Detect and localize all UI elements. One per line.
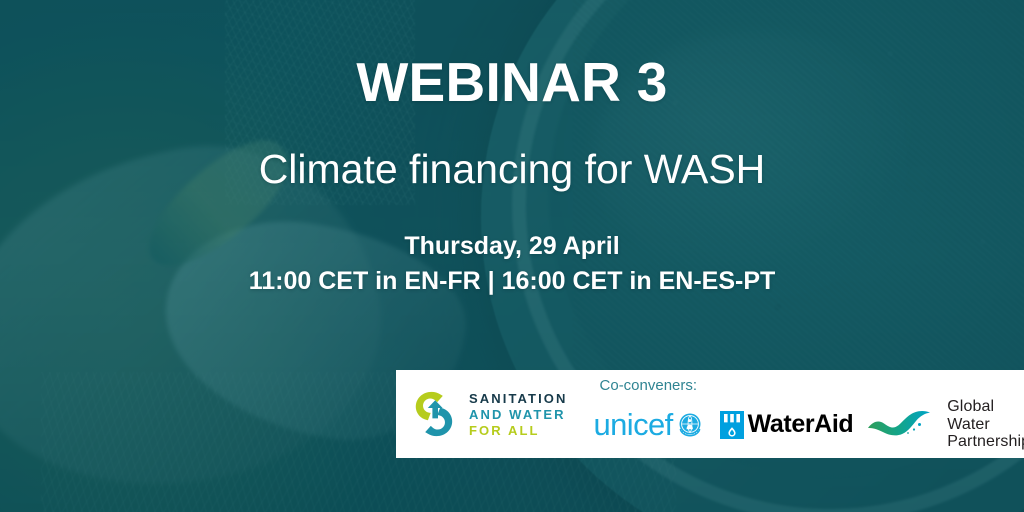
- gwp-wordmark: Global Water Partnership: [947, 398, 1024, 452]
- swa-wordmark-line3: FOR ALL: [469, 424, 568, 437]
- webinar-date: Thursday, 29 April: [0, 231, 1024, 262]
- gwp-wave-icon: [867, 407, 941, 443]
- coconveners-group: Co-conveners: unicef: [594, 377, 1024, 452]
- webinar-subtitle: Climate financing for WASH: [0, 147, 1024, 193]
- wateraid-logo: WaterAid: [719, 410, 854, 440]
- coconveners-label: Co-conveners:: [600, 377, 698, 394]
- wateraid-wordmark: WaterAid: [748, 412, 854, 437]
- logo-bar: SANITATION AND WATER FOR ALL Co-convener…: [396, 370, 1024, 458]
- unicef-logo: unicef: [594, 409, 705, 440]
- webinar-title: WEBINAR 3: [0, 54, 1024, 111]
- swa-logo: SANITATION AND WATER FOR ALL: [396, 388, 568, 440]
- swa-s-swirl-icon: [408, 388, 460, 440]
- swa-wordmark-line1: SANITATION: [469, 392, 568, 405]
- gwp-wordmark-line1: Global Water: [947, 398, 1024, 434]
- webinar-promo-banner: WEBINAR 3 Climate financing for WASH Thu…: [0, 0, 1024, 512]
- un-globe-emblem-icon: [675, 410, 705, 440]
- gwp-logo: Global Water Partnership: [867, 398, 1024, 452]
- gwp-wordmark-line2: Partnership: [947, 433, 1024, 451]
- swa-wordmark: SANITATION AND WATER FOR ALL: [469, 392, 568, 437]
- webinar-times: 11:00 CET in EN-FR | 16:00 CET in EN-ES-…: [0, 266, 1024, 297]
- swa-wordmark-line2: AND WATER: [469, 408, 568, 421]
- unicef-wordmark: unicef: [594, 409, 673, 440]
- coconveners-logos: unicef: [594, 398, 1024, 452]
- wateraid-droplet-mark-icon: [719, 410, 745, 440]
- headline-block: WEBINAR 3 Climate financing for WASH Thu…: [0, 54, 1024, 298]
